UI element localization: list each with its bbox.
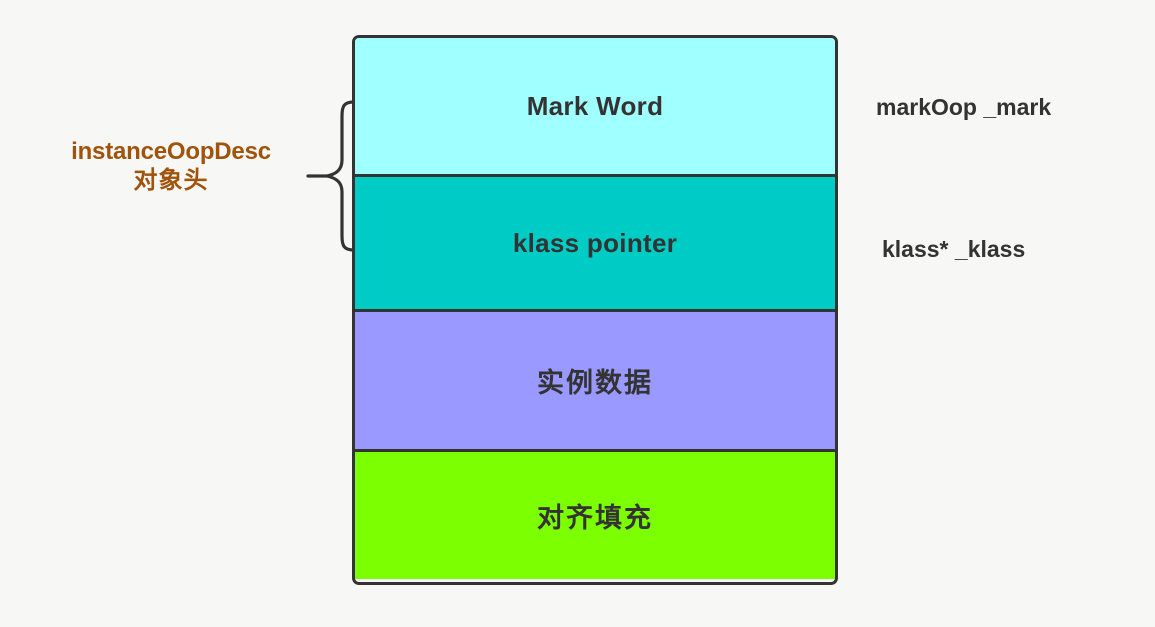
left-annotation-line-latin: instanceOopDesc [36,137,306,166]
band-klass-pointer: klass pointer [355,174,835,309]
left-annotation-line-cjk: 对象头 [36,166,306,195]
object-memory-stack: Mark Word klass pointer 实例数据 对齐填充 [352,35,838,585]
band-label-klass-pointer: klass pointer [513,228,677,259]
band-instance-data: 实例数据 [355,309,835,449]
right-annotation-mark-field: markOop _mark [876,94,1051,121]
band-label-instance-data: 实例数据 [537,361,653,400]
diagram-canvas: instanceOopDesc 对象头 Mark Word klass poin… [0,0,1155,627]
band-label-mark-word: Mark Word [527,91,664,122]
band-label-alignment-padding: 对齐填充 [537,496,653,535]
right-annotation-klass-field: klass* _klass [882,236,1025,263]
band-mark-word: Mark Word [355,38,835,174]
curly-brace-left-icon [306,98,358,254]
left-annotation-instanceoopdesc: instanceOopDesc 对象头 [36,137,306,196]
band-alignment-padding: 对齐填充 [355,449,835,579]
